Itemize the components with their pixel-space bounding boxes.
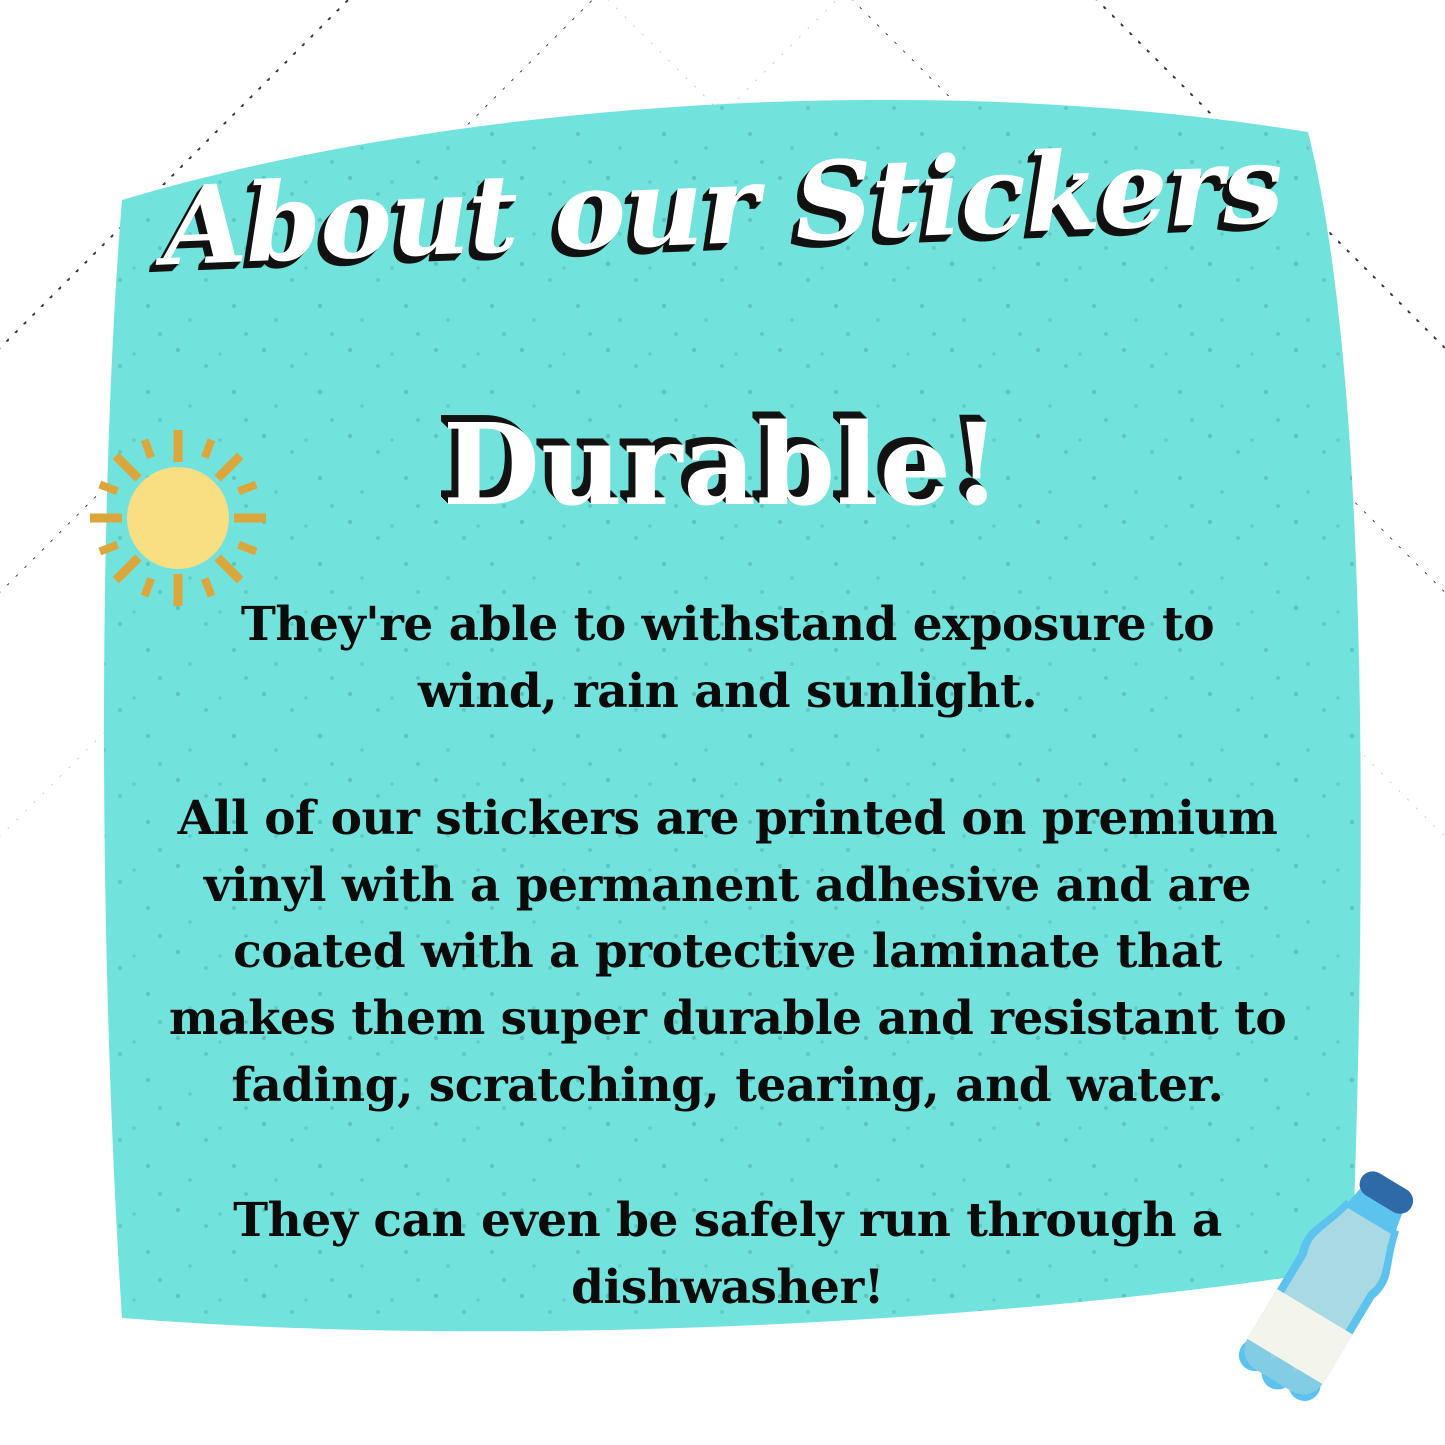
card-content: About our Stickers Durable! They're able… — [0, 0, 1445, 1445]
section-heading-durable: Durable! — [120, 410, 1325, 522]
page-title: About our Stickers — [118, 127, 1326, 287]
paragraph-materials: All of our stickers are printed on premi… — [165, 786, 1290, 1120]
paragraph-dishwasher: They can even be safely run through a di… — [165, 1188, 1290, 1321]
sticker-info-card: About our Stickers Durable! They're able… — [0, 0, 1445, 1445]
paragraph-weather-resistance: They're able to withstand exposure to wi… — [165, 592, 1290, 725]
water-bottle-icon — [1218, 1168, 1428, 1428]
bottle-group — [1229, 1168, 1428, 1411]
